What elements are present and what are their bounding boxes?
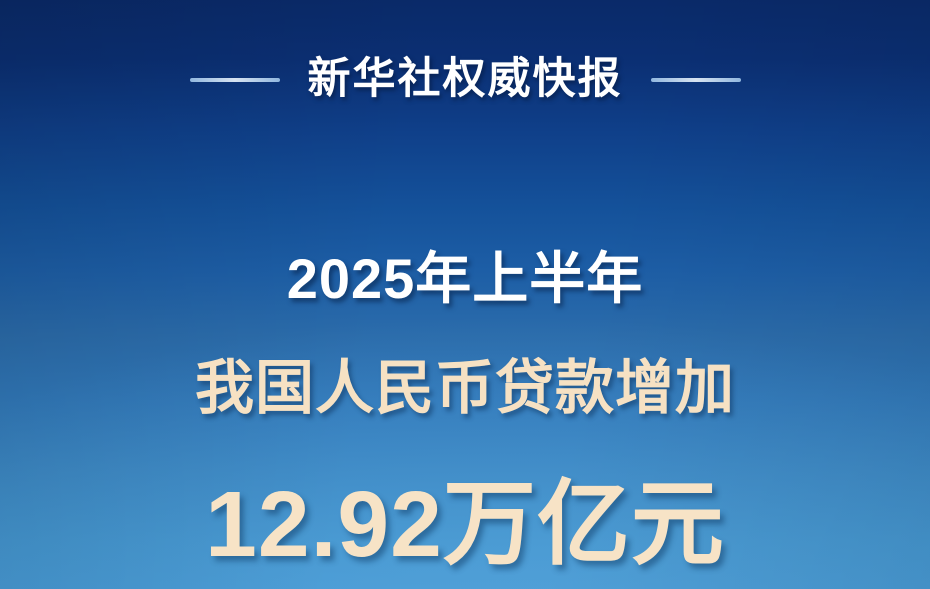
poster-content: 新华社权威快报 2025年上半年 我国人民币贷款增加 12.92万亿元	[0, 0, 930, 589]
headline-metric: 我国人民币贷款增加	[0, 340, 930, 425]
decorative-rule-right-icon	[651, 78, 741, 82]
masthead: 新华社权威快报	[0, 57, 930, 102]
headline-period: 2025年上半年	[0, 234, 930, 315]
news-poster: 新华社权威快报 2025年上半年 我国人民币贷款增加 12.92万亿元	[0, 0, 930, 589]
decorative-rule-left-icon	[190, 78, 280, 82]
headline-value: 12.92万亿元	[0, 448, 930, 583]
masthead-title: 新华社权威快报	[308, 57, 623, 102]
